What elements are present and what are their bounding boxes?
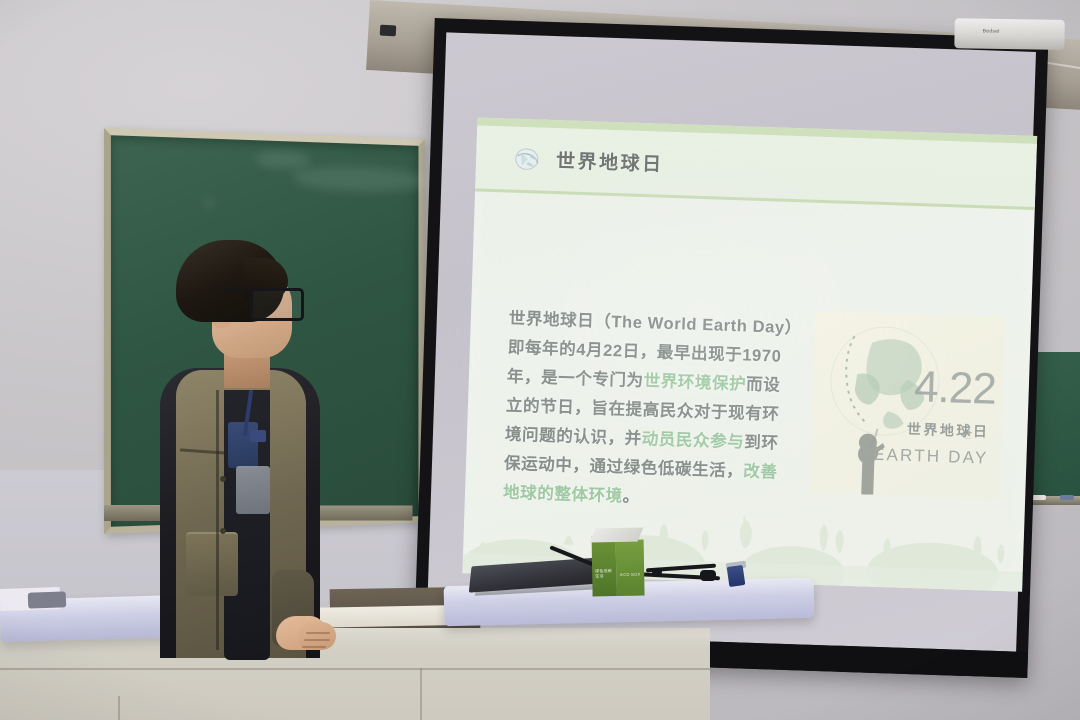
- finger-detail: [304, 639, 330, 641]
- cable-knot: [700, 570, 716, 581]
- highlighted-phrase: 世界环境保护: [643, 372, 746, 393]
- screen-surface: 世界地球日 世界地球日（The World Earth Day）即每年的4月22…: [426, 32, 1036, 651]
- presenter: [120, 240, 350, 660]
- presentation-slide: 世界地球日 世界地球日（The World Earth Day）即每年的4月22…: [462, 117, 1037, 591]
- badge: [250, 430, 266, 442]
- earth-day-caption-cn: 世界地球日: [907, 419, 990, 442]
- earth-day-date: 4.22: [913, 362, 996, 415]
- vest-button: [220, 528, 226, 534]
- screen-roller-housing: [954, 18, 1064, 50]
- vest-pocket: [186, 532, 238, 596]
- box-top-face: [590, 528, 644, 543]
- green-product-box: 绿色低碳生活 ECO BOX: [591, 528, 644, 597]
- vest-button: [220, 476, 226, 482]
- ceiling-sensor: [380, 25, 397, 37]
- screen-brand-label: Bedsel: [983, 28, 1000, 34]
- phone: [28, 591, 67, 608]
- highlighted-phrase: 动员民众参与: [641, 430, 744, 451]
- vest-seam: [216, 390, 219, 650]
- box-label: 绿色低碳生活: [595, 568, 615, 578]
- classroom-scene: 世界地球日 世界地球日（The World Earth Day）即每年的4月22…: [0, 0, 1080, 720]
- chalk-eraser: [1060, 495, 1074, 500]
- earth-day-illustration: 4.22 世界地球日 EARTH DAY: [809, 311, 1005, 499]
- shirt-graphic-secondary: [236, 466, 270, 514]
- cable-knot: [652, 568, 662, 576]
- earth-day-caption-en: EARTH DAY: [873, 445, 989, 469]
- globe-icon: [514, 146, 544, 171]
- slide-title: 世界地球日: [556, 146, 664, 177]
- finger-detail: [302, 646, 326, 648]
- box-right-face: [616, 540, 645, 596]
- glasses: [250, 288, 304, 321]
- box-sublabel: ECO BOX: [620, 572, 640, 577]
- vga-connector[interactable]: [727, 565, 746, 587]
- box-left-face: [592, 536, 617, 596]
- lectern-front-panel: [0, 628, 710, 720]
- finger-detail: [306, 632, 330, 634]
